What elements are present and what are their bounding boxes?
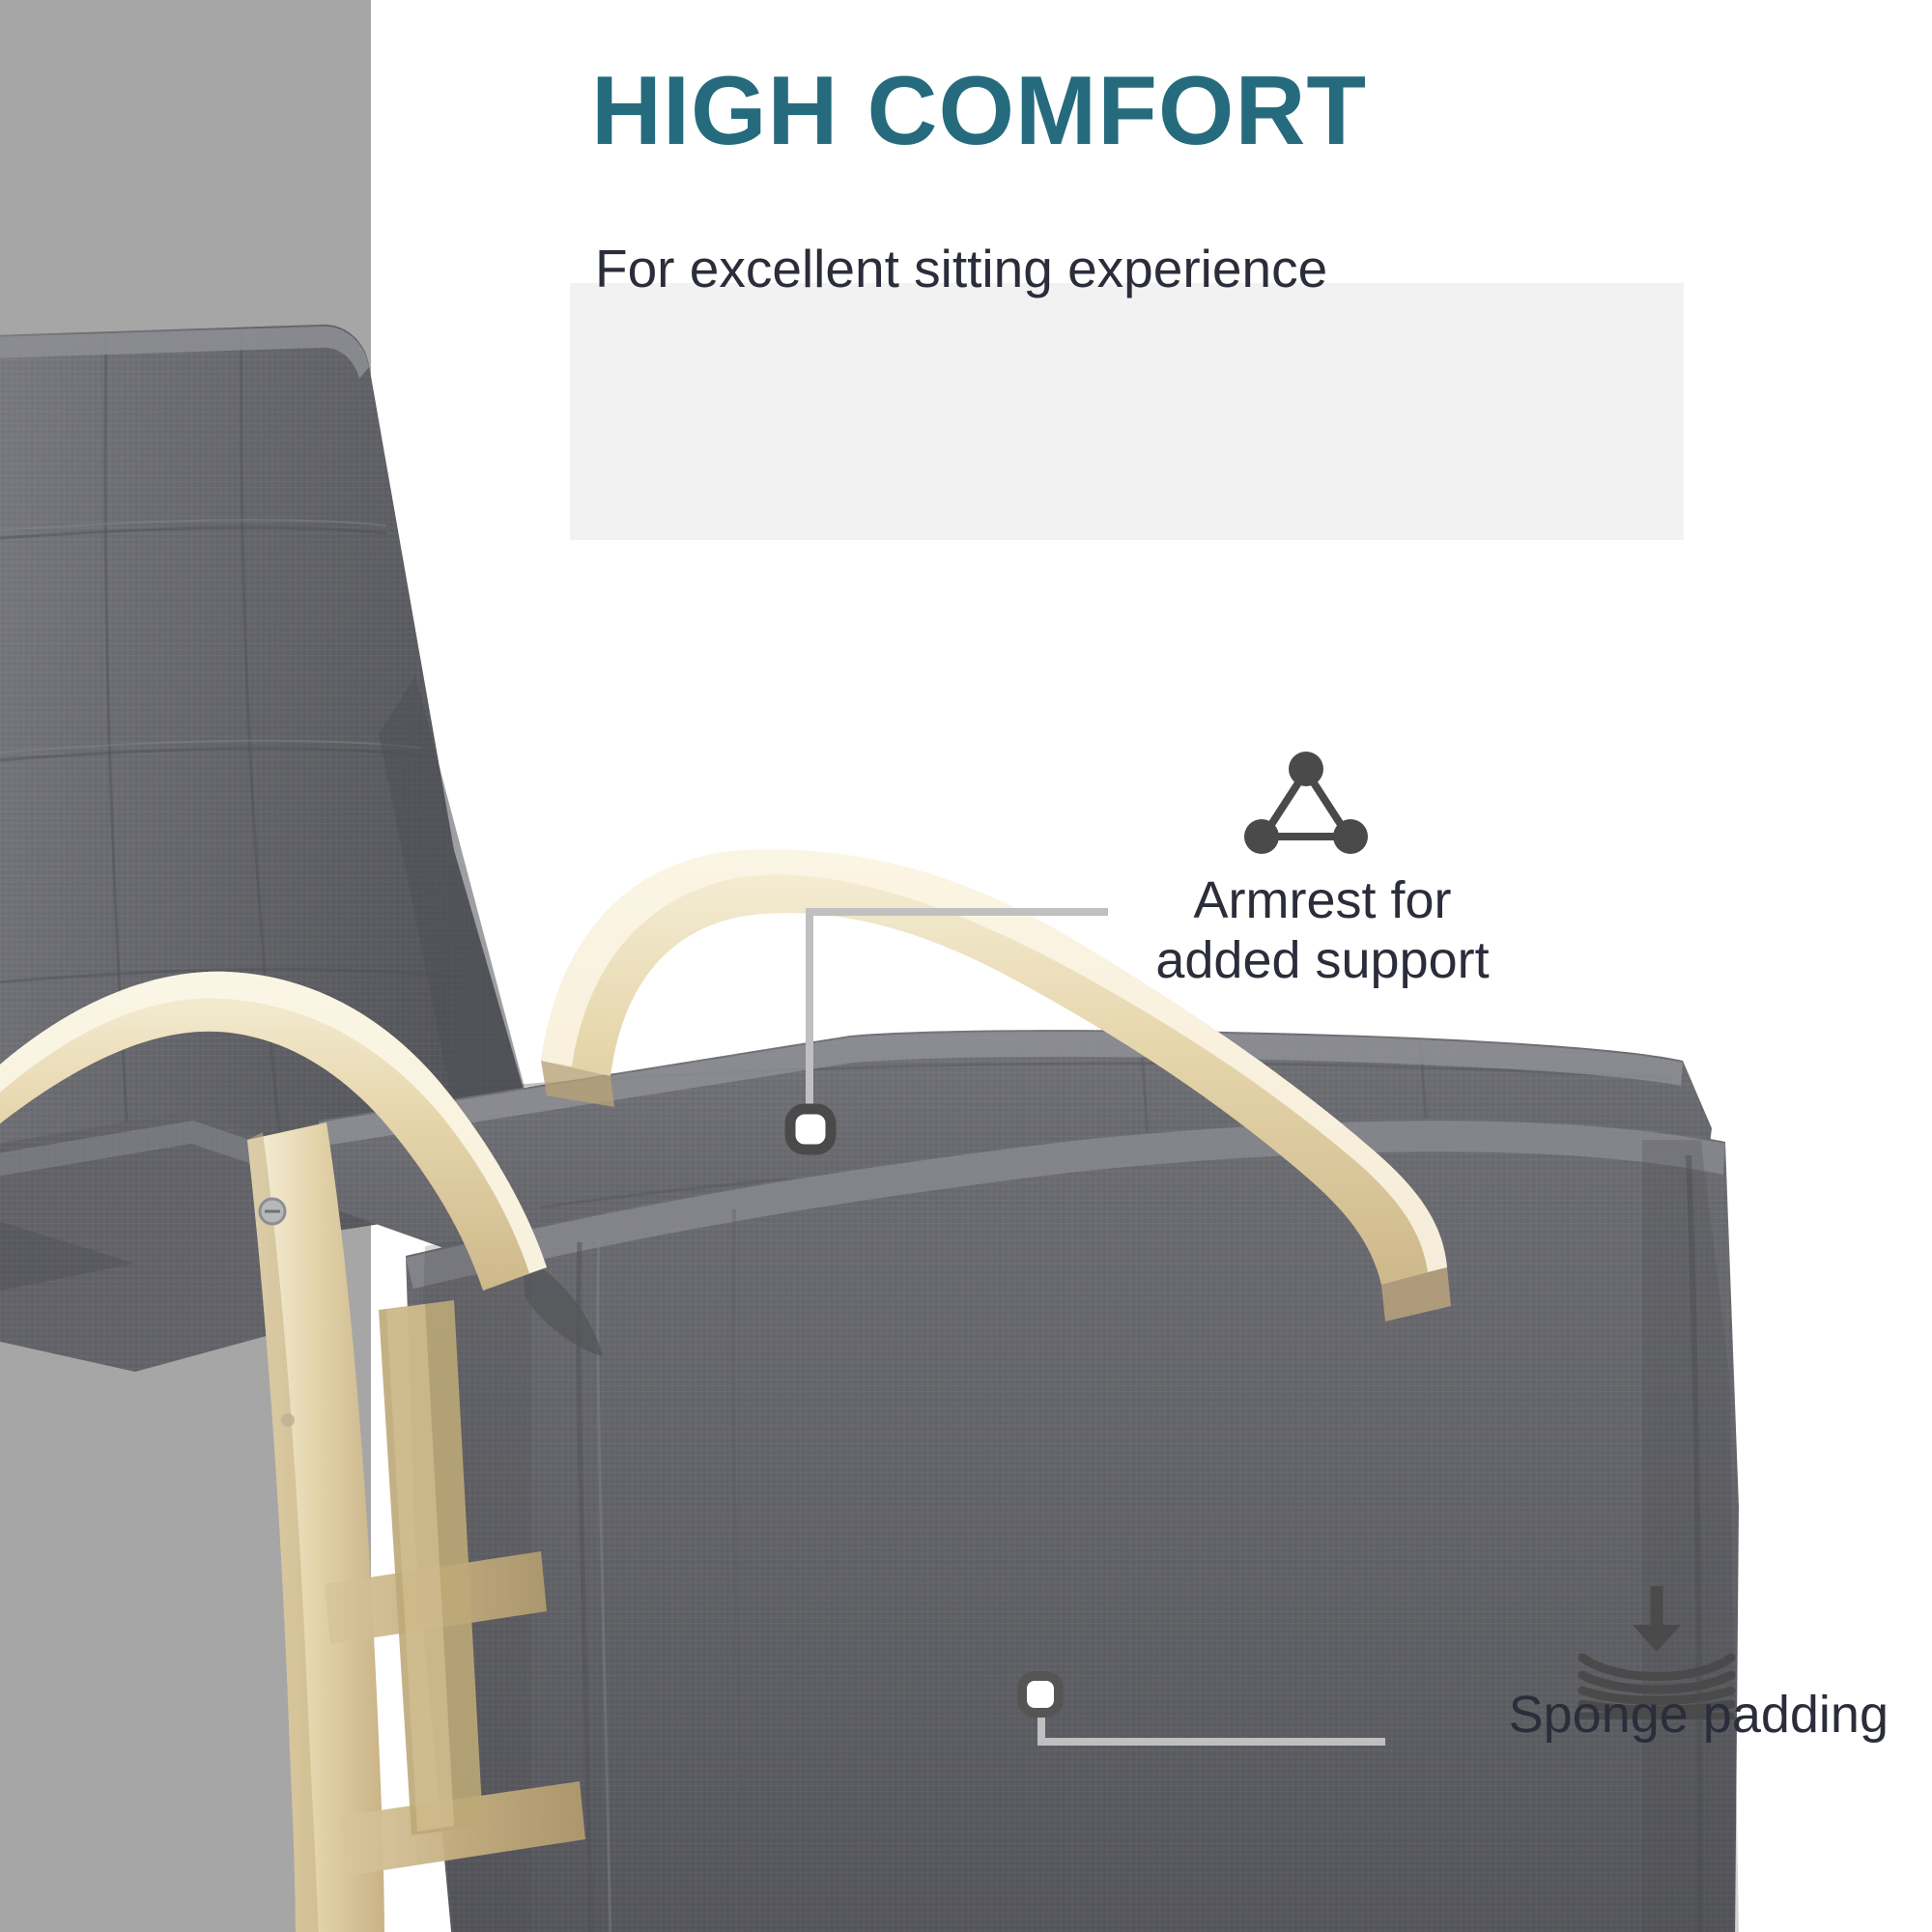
backdrop-band-lower <box>0 367 371 1932</box>
chair-armrest-near <box>541 849 1451 1808</box>
product-infographic: HIGH COMFORT For excellent sitting exper… <box>0 0 1932 1932</box>
sponge-marker-ring <box>1022 1676 1059 1713</box>
armrest-marker-ring <box>790 1109 831 1150</box>
leader-line-armrest <box>810 912 1108 1111</box>
backdrop-band-upper <box>0 0 371 379</box>
chair-seat-skirt <box>406 1119 1748 1932</box>
triangle-nodes-icon <box>1240 750 1372 863</box>
callout-armrest-label: Armrest for added support <box>1120 871 1525 990</box>
content-panel <box>570 283 1684 540</box>
chair-seat-cushion <box>319 1030 1712 1461</box>
callout-sponge-label: Sponge padding <box>1063 1686 1889 1746</box>
page-title: HIGH COMFORT <box>591 60 1367 162</box>
page-subtitle: For excellent sitting experience <box>595 240 1327 298</box>
